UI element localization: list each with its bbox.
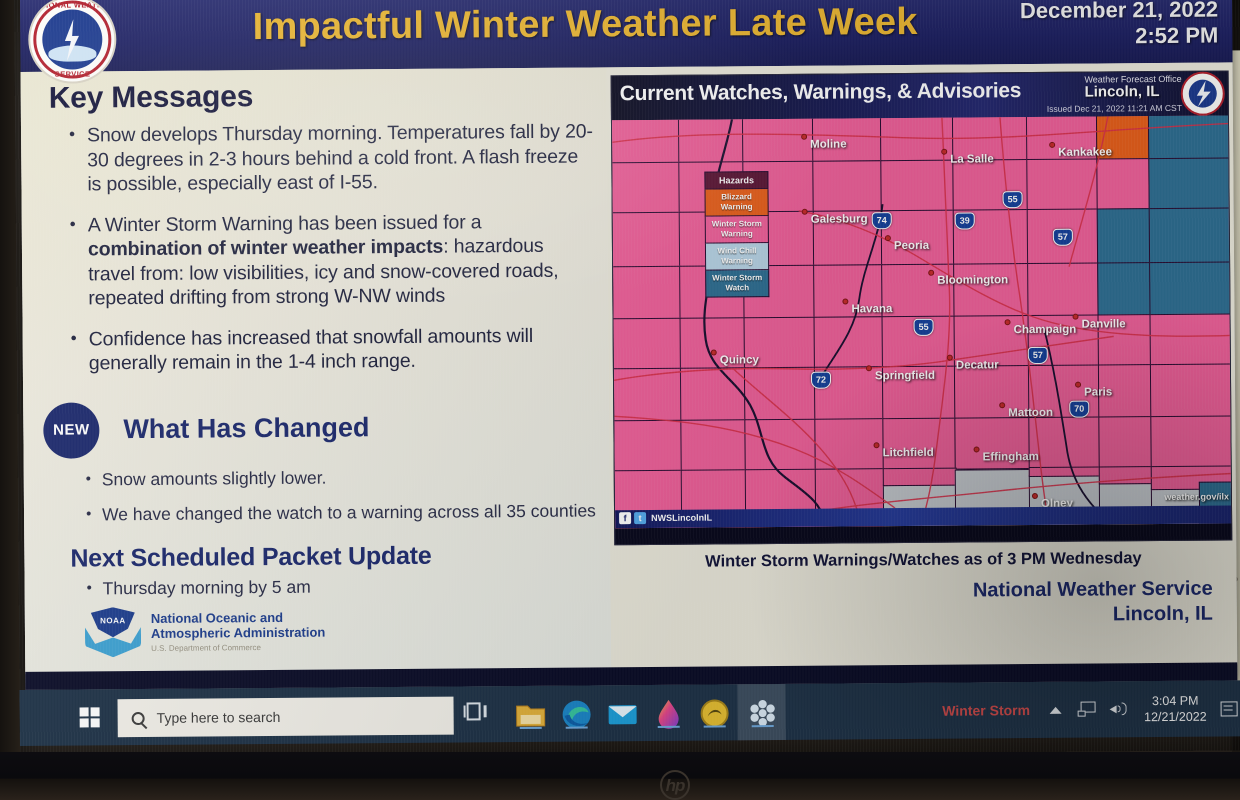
key-message-emphasis: combination of winter weather impacts	[88, 236, 443, 261]
graphic-header: Current Watches, Warnings, & Advisories …	[612, 71, 1228, 120]
legend-item-winter-storm-warning: Winter Storm Warning	[705, 216, 769, 244]
interstate-shield: 72	[811, 372, 831, 389]
city-label: Quincy	[720, 354, 759, 366]
interstate-shield: 39	[955, 212, 975, 229]
tray-date: 12/21/2022	[1144, 709, 1207, 725]
mail-icon[interactable]	[605, 697, 639, 731]
nws-seal-arc-top: NATIONAL WEATHER	[30, 0, 114, 10]
graphic-footer: f t NWSLincolnIL weather.gov/ilx	[615, 505, 1232, 528]
graphic-caption: Winter Storm Warnings/Watches as of 3 PM…	[610, 548, 1236, 572]
noaa-line-3: U.S. Department of Commerce	[151, 643, 325, 653]
task-view-button[interactable]	[464, 702, 490, 724]
noaa-mark-text: NOAA	[97, 616, 129, 625]
gold-coin-app-icon[interactable]	[697, 696, 731, 730]
city-marker	[1049, 142, 1055, 148]
city-label: Galesburg	[811, 213, 868, 225]
city-label: Champaign	[1014, 324, 1077, 336]
next-update-item: Thursday morning by 5 am	[87, 573, 597, 600]
search-input[interactable]: Type here to search	[117, 697, 453, 738]
city-marker	[1072, 314, 1078, 320]
twitter-icon[interactable]: t	[634, 512, 646, 524]
tray-time: 3:04 PM	[1144, 693, 1207, 709]
file-explorer-icon[interactable]	[513, 698, 547, 732]
city-label: Effingham	[983, 451, 1039, 463]
page-title: Impactful Winter Weather Late Week	[170, 0, 1000, 50]
city-marker	[866, 365, 872, 371]
start-button[interactable]	[69, 697, 109, 737]
interstate-shield: 70	[1069, 401, 1089, 418]
noaa-logo: NOAA National Oceanic and Atmospheric Ad…	[85, 606, 326, 660]
signature-office: Lincoln, IL	[973, 602, 1213, 629]
slide-body: Key Messages Snow develops Thursday morn…	[21, 62, 1238, 689]
new-badge: NEW	[43, 402, 99, 458]
legend-title: Hazards	[704, 171, 768, 190]
city-marker	[885, 235, 891, 241]
key-message-item: Snow develops Thursday morning. Temperat…	[69, 119, 594, 197]
illinois-hazard-map[interactable]: Hazards Blizzard Warning Winter Storm Wa…	[612, 115, 1232, 528]
legend-item-blizzard-warning: Blizzard Warning	[705, 189, 769, 217]
city-label: Mattoon	[1008, 407, 1053, 419]
search-icon	[132, 711, 145, 724]
what-has-changed-list: Snow amounts slightly lower. We have cha…	[86, 464, 596, 526]
city-marker	[928, 270, 934, 276]
status-badge[interactable]: Winter Storm	[942, 702, 1030, 719]
city-marker	[941, 149, 947, 155]
city-label: Peoria	[894, 240, 929, 252]
noaa-line-2: Atmospheric Administration	[151, 625, 325, 641]
volume-icon[interactable]	[1110, 701, 1130, 717]
hazards-legend: Hazards Blizzard Warning Winter Storm Wa…	[704, 171, 769, 297]
graphic-issued-time: Issued Dec 21, 2022 11:21 AM CST	[1047, 103, 1182, 114]
graphic-panel: Current Watches, Warnings, & Advisories …	[607, 62, 1238, 669]
photographed-monitor: our sn 3:03 P NATIONAL WEATHER SERVICE I…	[0, 0, 1240, 800]
city-marker	[999, 402, 1005, 408]
header-time: 2:52 PM	[1020, 23, 1218, 51]
what-has-changed-header: NEW What Has Changed	[43, 398, 595, 458]
key-message-pre: A Winter Storm Warning has been issued f…	[88, 211, 482, 236]
header-datetime: December 21, 2022 2:52 PM	[1020, 0, 1219, 50]
city-marker	[874, 442, 880, 448]
wfo-city: Lincoln, IL	[1084, 83, 1159, 101]
website-url: weather.gov/ilx	[1164, 491, 1229, 502]
city-label: Danville	[1082, 318, 1126, 330]
weather-forecast-office: Weather Forecast Office Lincoln, IL	[1084, 74, 1181, 85]
city-label: Havana	[851, 303, 892, 315]
taskbar-clock[interactable]: 3:04 PM 12/21/2022	[1144, 693, 1207, 725]
interstate-shield: 55	[914, 319, 934, 336]
legend-item-wind-chill-warning: Wind Chill Warning	[705, 243, 769, 271]
interstate-shield: 55	[1003, 191, 1023, 208]
interstate-shield: 74	[872, 212, 892, 229]
city-marker	[1005, 319, 1011, 325]
city-label: Litchfield	[883, 447, 934, 459]
monitor-bezel-bottom	[0, 752, 1240, 800]
city-label: Moline	[810, 138, 847, 150]
city-marker	[802, 209, 808, 215]
nws-badge-icon	[1180, 70, 1226, 116]
network-icon[interactable]	[1078, 702, 1096, 718]
city-label: La Salle	[950, 153, 994, 165]
facebook-icon[interactable]: f	[619, 512, 631, 524]
social-links[interactable]: f t NWSLincolnIL	[619, 512, 712, 525]
nws-signature: National Weather Service Lincoln, IL	[973, 577, 1213, 629]
key-message-item: A Winter Storm Warning has been issued f…	[70, 209, 595, 311]
nws-seal-icon: NATIONAL WEATHER SERVICE	[28, 0, 117, 84]
city-marker	[842, 298, 848, 304]
system-tray: Winter Storm 3:04 PM 12/21/2022	[942, 680, 1240, 738]
legend-item-winter-storm-watch: Winter Storm Watch	[705, 270, 769, 298]
city-label: Bloomington	[937, 274, 1008, 287]
changed-item: Snow amounts slightly lower.	[86, 464, 596, 491]
city-marker	[947, 355, 953, 361]
city-marker	[1075, 382, 1081, 388]
snowflake-app-icon[interactable]	[745, 696, 779, 730]
city-marker	[711, 349, 717, 355]
signature-agency: National Weather Service	[973, 577, 1213, 604]
what-has-changed-heading: What Has Changed	[123, 412, 369, 445]
microsoft-edge-icon[interactable]	[559, 697, 593, 731]
notifications-icon[interactable]	[1221, 701, 1238, 716]
noaa-seal-icon: NOAA	[85, 607, 141, 659]
city-label: Springfield	[875, 370, 935, 382]
search-placeholder: Type here to search	[157, 709, 281, 726]
key-message-item: Confidence has increased that snowfall a…	[71, 323, 595, 376]
slide-header: NATIONAL WEATHER SERVICE Impactful Winte…	[20, 0, 1233, 72]
next-update-heading: Next Scheduled Packet Update	[70, 540, 596, 573]
windows-logo-icon	[80, 707, 100, 727]
key-messages-heading: Key Messages	[49, 77, 593, 115]
nws-seal-arc-bottom: SERVICE	[31, 69, 115, 79]
interstate-shield: 57	[1028, 347, 1048, 364]
hp-brand-logo: hp	[660, 770, 690, 800]
interstate-shield: 57	[1053, 229, 1073, 246]
noaa-line-1: National Oceanic and	[151, 610, 325, 626]
ink-drop-app-icon[interactable]	[651, 697, 685, 731]
social-handle: NWSLincolnIL	[651, 513, 712, 523]
chevron-up-icon[interactable]	[1050, 706, 1062, 713]
city-marker	[801, 134, 807, 140]
city-marker	[1032, 493, 1038, 499]
city-label: Kankakee	[1058, 146, 1112, 158]
city-marker	[974, 446, 980, 452]
next-update-list: Thursday morning by 5 am	[87, 573, 597, 600]
windows-taskbar: Type here to search	[19, 680, 1240, 746]
changed-item: We have changed the watch to a warning a…	[86, 499, 596, 526]
key-messages-list: Snow develops Thursday morning. Temperat…	[69, 119, 595, 376]
monitor-screen: our sn 3:03 P NATIONAL WEATHER SERVICE I…	[14, 0, 1240, 760]
header-date: December 21, 2022	[1020, 0, 1218, 24]
city-label: Decatur	[956, 359, 999, 371]
graphic-title: Current Watches, Warnings, & Advisories	[620, 79, 1022, 106]
weather-briefing-slide: NATIONAL WEATHER SERVICE Impactful Winte…	[20, 0, 1237, 690]
watches-warnings-graphic: Current Watches, Warnings, & Advisories …	[611, 70, 1233, 545]
key-messages-panel: Key Messages Snow develops Thursday morn…	[21, 67, 612, 674]
city-label: Paris	[1084, 386, 1112, 398]
